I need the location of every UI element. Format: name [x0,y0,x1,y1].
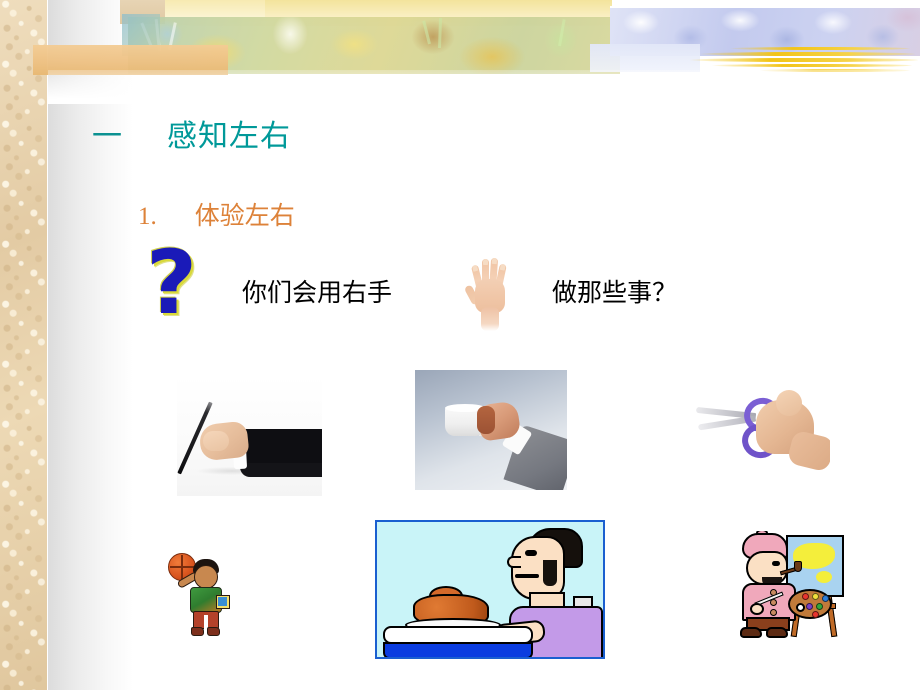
question-text-part-b: 做那些事？ [552,273,677,309]
photo-hand-using-scissors [690,378,830,483]
boy-shoe [207,627,220,636]
header-bottom-fade [48,70,920,104]
slide-canvas: 一感知左右 1.体验左右 ? 你们会用右手 做那些事？ [0,0,920,690]
clipart-painter-with-palette [740,531,845,641]
boy-head [194,565,218,589]
table-base [383,642,533,659]
palette-paint-dab [812,593,819,600]
sidebar-texture [0,0,47,690]
paint-splash [816,571,832,583]
boy-shoe [191,627,204,636]
suit-sleeve-lower [240,463,322,477]
pale-blue-block [590,44,700,72]
boy-card-inner [218,597,227,606]
painter-hand [750,603,764,615]
palette-paint-dab [822,595,829,602]
clipart-boy-spinning-basketball [166,549,238,641]
hand-wrist [787,429,830,472]
golden-wheat-accent [700,52,915,56]
golden-wheat-accent [730,47,910,50]
section-heading-1-number: 一 [92,119,123,154]
palette-paint-dab [802,593,809,600]
header-decoration-banner [0,0,920,100]
open-hand-icon [461,253,521,331]
painter-shoe [740,627,762,638]
question-row: ? 你们会用右手 做那些事？ [146,255,846,335]
photo-hand-writing-pencil [177,375,322,496]
yellow-strip-band [265,0,620,18]
painter-shoe [766,627,788,638]
golden-wheat-accent [712,64,912,67]
section-heading-2: 1.体验左右 [138,196,295,232]
palette-thumb-hole [796,603,805,612]
pipe-bowl [794,561,802,572]
section-heading-2-number: 1. [138,203,157,230]
painter-eye [772,561,780,566]
palette-paint-dab [812,611,819,618]
coat-button [770,609,777,616]
question-mark-icon: ? [146,255,218,335]
photo-hand-holding-cup [415,370,567,490]
man-sideburn [543,560,557,586]
hand-knuckles [203,431,229,451]
man-eye [525,550,537,556]
hand-wrist [481,307,499,331]
hand-thumb [776,390,802,416]
section-heading-1: 一感知左右 [92,111,291,155]
section-heading-1-text: 感知左右 [167,119,291,154]
question-text-part-a: 你们会用右手 [242,273,392,309]
section-heading-2-text: 体验左右 [195,201,295,230]
man-mouth [515,574,539,578]
clipart-man-eating-at-table [375,520,605,659]
golden-wheat-accent [690,58,918,62]
hand-fingers [477,406,495,434]
palette-paint-dab [816,603,823,610]
palette-paint-dab [806,603,813,610]
man-nose [507,556,521,568]
